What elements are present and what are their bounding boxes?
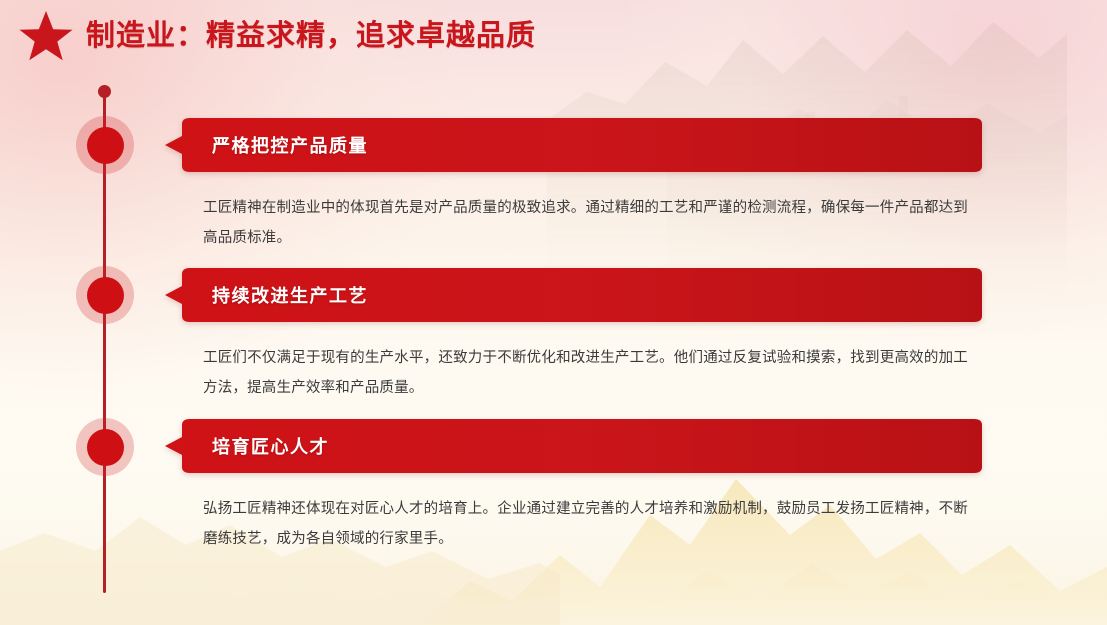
slide-header: 制造业：精益求精，追求卓越品质	[0, 0, 1107, 72]
banner-title-2: 持续改进生产工艺	[212, 268, 368, 322]
section-banner-2[interactable]: 持续改进生产工艺	[165, 268, 982, 322]
timeline-node-3[interactable]	[76, 418, 134, 476]
timeline-node-2[interactable]	[76, 266, 134, 324]
slide-canvas: 制造业：精益求精，追求卓越品质 严格把控产品质量 工匠精神在制造业中的体现首先是…	[0, 0, 1107, 625]
section-body-2: 工匠们不仅满足于现有的生产水平，还致力于不断优化和改进生产工艺。他们通过反复试验…	[203, 343, 968, 403]
section-banner-1[interactable]: 严格把控产品质量	[165, 118, 982, 172]
section-body-1: 工匠精神在制造业中的体现首先是对产品质量的极致追求。通过精细的工艺和严谨的检测流…	[203, 193, 968, 253]
section-body-3: 弘扬工匠精神还体现在对匠心人才的培育上。企业通过建立完善的人才培养和激励机制，鼓…	[203, 494, 968, 554]
red-star-icon	[18, 9, 74, 63]
section-banner-3[interactable]: 培育匠心人才	[165, 419, 982, 473]
page-title: 制造业：精益求精，追求卓越品质	[86, 22, 536, 51]
timeline-node-1[interactable]	[76, 116, 134, 174]
banner-title-1: 严格把控产品质量	[212, 118, 368, 172]
banner-title-3: 培育匠心人才	[212, 419, 329, 473]
